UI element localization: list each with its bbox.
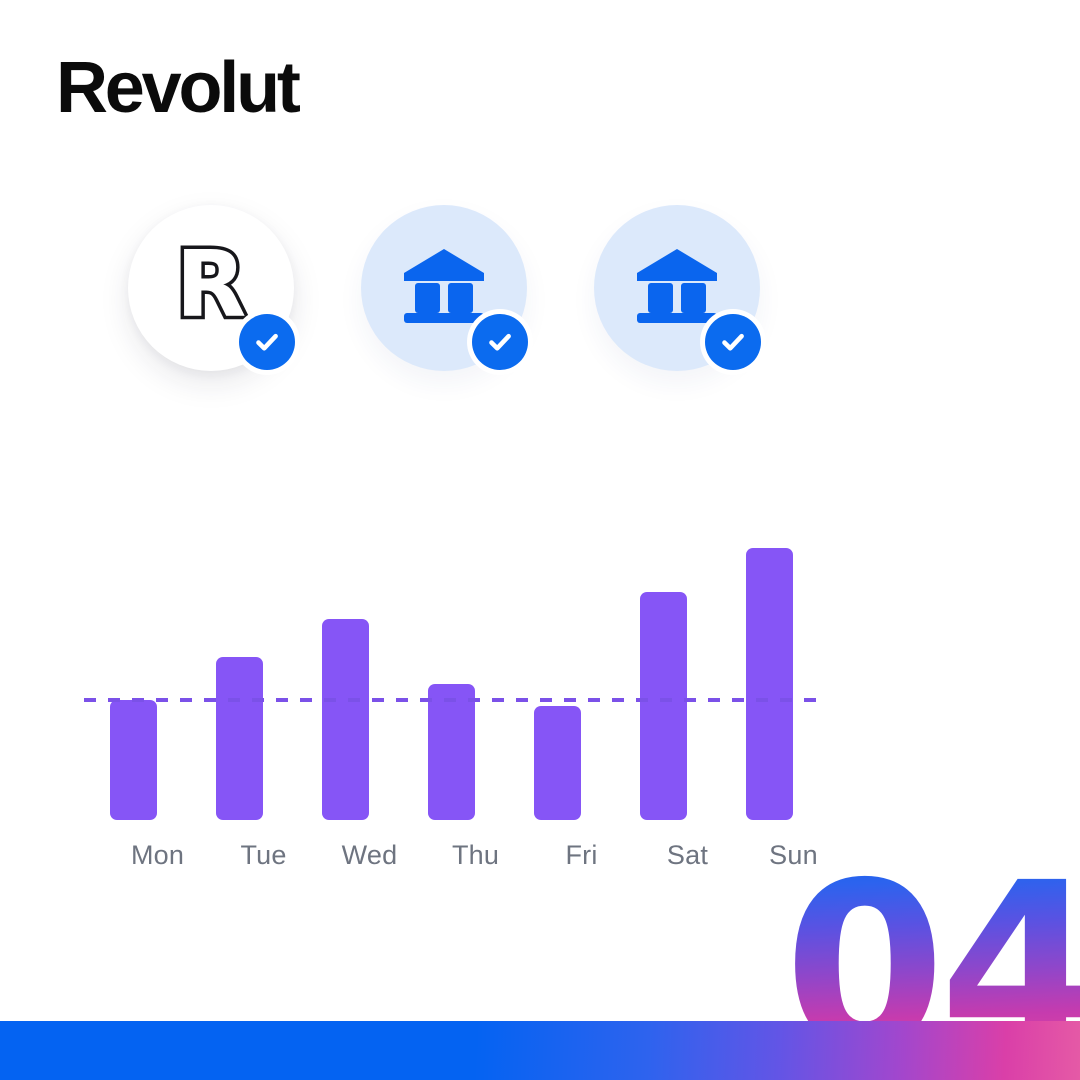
chart-x-label: Thu [423,840,529,871]
chart-bar [640,592,687,820]
revolut-wordmark: Revolut [56,52,298,124]
chart-bar [746,548,793,820]
chart-bar [216,657,263,820]
chart-reference-line [84,698,818,702]
account-badge-bank-1[interactable] [361,205,527,371]
chart-x-label: Sat [635,840,741,871]
chart-x-label: Fri [529,840,635,871]
bank-icon [634,247,720,330]
chart-x-axis: MonTueWedThuFriSatSun [110,840,840,880]
chart-bar [534,706,581,820]
account-badge-bank-2[interactable] [594,205,760,371]
chart-bar [322,619,369,820]
weekly-spending-chart [0,548,1080,878]
chart-x-label: Mon [105,840,211,871]
chart-bar [428,684,475,820]
chart-x-label: Tue [211,840,317,871]
chart-x-label: Wed [317,840,423,871]
bottom-accent-bar [0,1021,1080,1080]
verified-badge-revolut [234,309,300,375]
connected-accounts-row: R [128,205,828,405]
chart-bar [110,700,157,820]
revolut-r-icon: R [176,239,247,331]
account-badge-revolut[interactable]: R [128,205,294,371]
slide-canvas: Revolut R [0,0,1080,1080]
chart-plot-area [110,548,840,820]
check-icon [472,314,528,370]
check-icon [705,314,761,370]
verified-badge-bank-2 [700,309,766,375]
check-icon [239,314,295,370]
bank-icon [401,247,487,330]
verified-badge-bank-1 [467,309,533,375]
